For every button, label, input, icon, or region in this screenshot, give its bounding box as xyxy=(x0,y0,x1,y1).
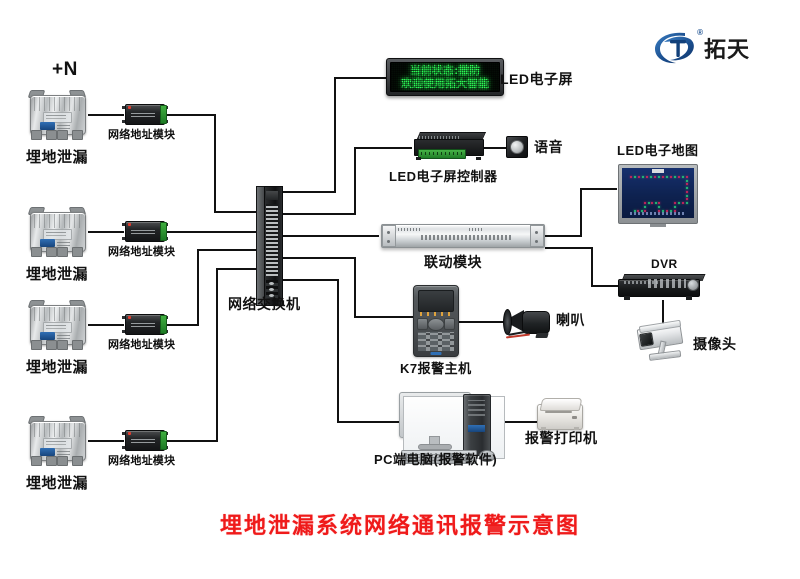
buried-leak-detector-2-label: 埋地泄漏 xyxy=(26,267,88,282)
horn-speaker[interactable] xyxy=(504,306,552,338)
map-led-dot xyxy=(642,176,644,178)
map-led-dot xyxy=(655,202,657,204)
map-led-dot xyxy=(637,210,639,212)
map-led-dot xyxy=(630,176,632,178)
buried-leak-detector-3-label: 埋地泄漏 xyxy=(26,360,88,375)
wire-switch-pc-run xyxy=(280,279,339,281)
map-led-dot xyxy=(674,176,676,178)
map-led-dot xyxy=(644,202,646,204)
map-led-dot xyxy=(658,202,660,204)
wire-sensor2-module2 xyxy=(88,231,124,233)
wire-k7-horn xyxy=(459,321,508,323)
buried-leak-detector-1-label: 埋地泄漏 xyxy=(26,150,88,165)
map-led-dot xyxy=(654,176,656,178)
wire-switch-ledscreen-run xyxy=(280,191,336,193)
horn-speaker-label: 喇叭 xyxy=(556,313,585,327)
wire-module3-run xyxy=(163,324,199,326)
wire-module1-run xyxy=(163,114,216,116)
buried-leak-detector-4[interactable] xyxy=(26,414,88,466)
registered-mark: ® xyxy=(697,28,703,37)
wire-linkage-dvr-run xyxy=(545,247,593,249)
wire-switch-ledctl xyxy=(354,147,412,149)
wire-module4-to-switch xyxy=(216,268,256,270)
wire-switch-ledctl-run xyxy=(280,213,356,215)
alarm-printer-label: 报警打印机 xyxy=(525,431,598,445)
wire-switch-ledscreen xyxy=(334,77,386,79)
map-led-dot xyxy=(658,206,660,208)
wire-switch-linkage xyxy=(280,235,379,237)
network-switch[interactable] xyxy=(256,186,282,304)
linkage-module[interactable] xyxy=(381,224,545,248)
wire-module3-rise xyxy=(197,249,199,326)
pc-workstation-label: PC端电脑(报警软件) xyxy=(374,453,497,466)
map-led-dot xyxy=(641,210,643,212)
network-address-module-1[interactable] xyxy=(122,102,168,126)
led-screen-controller-label: LED电子屏控制器 xyxy=(389,170,498,183)
map-led-dot xyxy=(674,210,676,212)
wire-switch-pc-drop xyxy=(337,279,339,423)
wire-switch-k7 xyxy=(354,316,413,318)
network-address-module-1-label: 网络地址模块 xyxy=(108,130,175,141)
diagram-title: 埋地泄漏系统网络通讯报警示意图 xyxy=(0,508,800,540)
map-led-dot xyxy=(686,195,688,197)
voice-speaker-label: 语音 xyxy=(534,140,563,154)
map-led-dot xyxy=(686,187,688,189)
led-display-screen[interactable]: 当前状态:撤防 欢迎使用拓大智能 xyxy=(386,58,504,96)
map-led-dot xyxy=(658,176,660,178)
map-led-dot xyxy=(666,176,668,178)
wire-linkage-map xyxy=(580,188,617,190)
map-led-dot xyxy=(682,176,684,178)
diagram-canvas: ® 拓天 xyxy=(0,0,800,579)
map-led-dot xyxy=(666,210,668,212)
brand-logo: ® 拓天 xyxy=(652,28,750,68)
wire-sensor3-module3 xyxy=(88,324,124,326)
map-led-dot xyxy=(658,210,660,212)
led-map-label: LED电子地图 xyxy=(617,144,699,157)
wire-switch-k7-drop xyxy=(354,257,356,318)
buried-leak-detector-4-label: 埋地泄漏 xyxy=(26,476,88,491)
wire-linkage-map-rise xyxy=(580,188,582,237)
wire-switch-ledscreen-rise xyxy=(334,77,336,193)
wire-switch-k7-run xyxy=(280,257,356,259)
map-led-dot xyxy=(634,176,636,178)
led-electronic-map[interactable] xyxy=(618,164,698,224)
ip-camera[interactable] xyxy=(636,322,692,364)
alarm-printer[interactable] xyxy=(537,398,583,430)
network-address-module-2[interactable] xyxy=(122,219,168,243)
dvr-recorder[interactable] xyxy=(618,274,704,300)
wire-linkage-map-run xyxy=(545,235,582,237)
map-led-dot xyxy=(670,176,672,178)
voice-speaker[interactable] xyxy=(506,136,528,158)
map-led-dot xyxy=(682,202,684,204)
map-led-dot xyxy=(670,210,672,212)
map-led-dot xyxy=(650,176,652,178)
map-led-dot xyxy=(634,210,636,212)
dvr-label: DVR xyxy=(651,258,678,270)
buried-leak-detector-2[interactable] xyxy=(26,205,88,257)
linkage-module-label: 联动模块 xyxy=(424,255,482,269)
map-led-dot xyxy=(686,180,688,182)
map-led-dot xyxy=(648,202,650,204)
map-led-dot xyxy=(674,206,676,208)
led-screen-line1: 当前状态:撤防 xyxy=(410,64,480,77)
map-led-dot xyxy=(686,176,688,178)
wire-linkage-dvr-drop xyxy=(591,247,593,287)
wire-module4-rise xyxy=(216,268,218,442)
map-led-dot xyxy=(646,176,648,178)
network-address-module-3[interactable] xyxy=(122,312,168,336)
wire-module1-drop xyxy=(214,114,216,213)
network-address-module-4-label: 网络地址模块 xyxy=(108,456,175,467)
map-led-dot xyxy=(686,191,688,193)
k7-alarm-host[interactable] xyxy=(413,285,459,357)
led-display-screen-label: LED电子屏 xyxy=(500,72,573,86)
map-led-dot xyxy=(678,202,680,204)
k7-alarm-host-label: K7报警主机 xyxy=(400,362,472,375)
sensor-multiplier-label: +N xyxy=(52,60,78,79)
led-screen-line2: 欢迎使用拓大智能 xyxy=(401,77,489,90)
map-led-dot xyxy=(686,183,688,185)
map-led-dot xyxy=(651,202,653,204)
map-led-dot xyxy=(662,210,664,212)
wire-module4-run xyxy=(163,440,218,442)
map-led-dot xyxy=(662,176,664,178)
map-led-dot xyxy=(686,202,688,204)
brand-name: 拓天 xyxy=(704,32,750,64)
wire-sensor1-module1 xyxy=(88,114,124,116)
map-led-dot xyxy=(674,202,676,204)
wire-linkage-dvr xyxy=(591,285,618,287)
network-address-module-3-label: 网络地址模块 xyxy=(108,340,175,351)
wire-switch-ledctl-rise xyxy=(354,147,356,215)
led-screen-controller[interactable] xyxy=(412,132,486,158)
map-led-dot xyxy=(644,206,646,208)
map-led-dot xyxy=(678,176,680,178)
wire-module3-to-switch xyxy=(197,249,256,251)
map-led-dot xyxy=(638,176,640,178)
wire-module2-to-switch xyxy=(163,231,256,233)
network-address-module-2-label: 网络地址模块 xyxy=(108,247,175,258)
wire-switch-pc xyxy=(337,421,399,423)
buried-leak-detector-1[interactable] xyxy=(26,88,88,140)
buried-leak-detector-3[interactable] xyxy=(26,298,88,350)
wire-sensor4-module4 xyxy=(88,440,124,442)
network-address-module-4[interactable] xyxy=(122,428,168,452)
map-led-dot xyxy=(686,198,688,200)
map-led-dot xyxy=(644,210,646,212)
wire-module1-to-switch xyxy=(214,211,256,213)
tuotian-swoosh-logo-icon: ® xyxy=(652,28,698,68)
network-switch-label: 网络交换机 xyxy=(228,297,301,311)
ip-camera-label: 摄像头 xyxy=(693,337,737,351)
